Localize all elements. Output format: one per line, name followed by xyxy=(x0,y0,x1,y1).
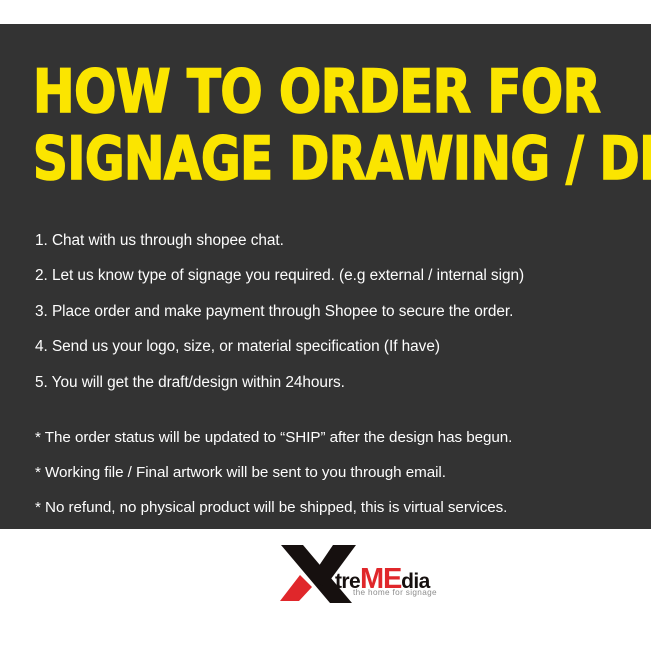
list-item: 5. You will get the draft/design within … xyxy=(35,355,635,390)
headline-line-2: SIGNAGE DRAWING / DESIGN? xyxy=(33,129,583,189)
list-item: 3. Place order and make payment through … xyxy=(35,284,635,319)
list-item: * Working file / Final artwork will be s… xyxy=(35,445,635,480)
poster-canvas: HOW TO ORDER FOR SIGNAGE DRAWING / DESIG… xyxy=(0,0,651,651)
list-item: 1. Chat with us through shopee chat. xyxy=(35,213,635,248)
brand-logo: treMEdia the home for signage xyxy=(278,539,458,609)
list-item: 4. Send us your logo, size, or material … xyxy=(35,319,635,354)
brand-tagline: the home for signage xyxy=(353,588,437,597)
dark-content-panel: HOW TO ORDER FOR SIGNAGE DRAWING / DESIG… xyxy=(0,24,651,529)
terms-notes-list: * The order status will be updated to “S… xyxy=(35,410,635,516)
footer-bar: treMEdia the home for signage xyxy=(0,529,651,651)
list-item: 2. Let us know type of signage you requi… xyxy=(35,248,635,283)
instruction-steps-list: 1. Chat with us through shopee chat. 2. … xyxy=(35,213,635,390)
list-item: * No refund, no physical product will be… xyxy=(35,480,635,515)
headline-line-1: HOW TO ORDER FOR xyxy=(33,62,599,122)
list-item: * The order status will be updated to “S… xyxy=(35,410,635,445)
page-title: HOW TO ORDER FOR SIGNAGE DRAWING / DESIG… xyxy=(33,62,648,189)
